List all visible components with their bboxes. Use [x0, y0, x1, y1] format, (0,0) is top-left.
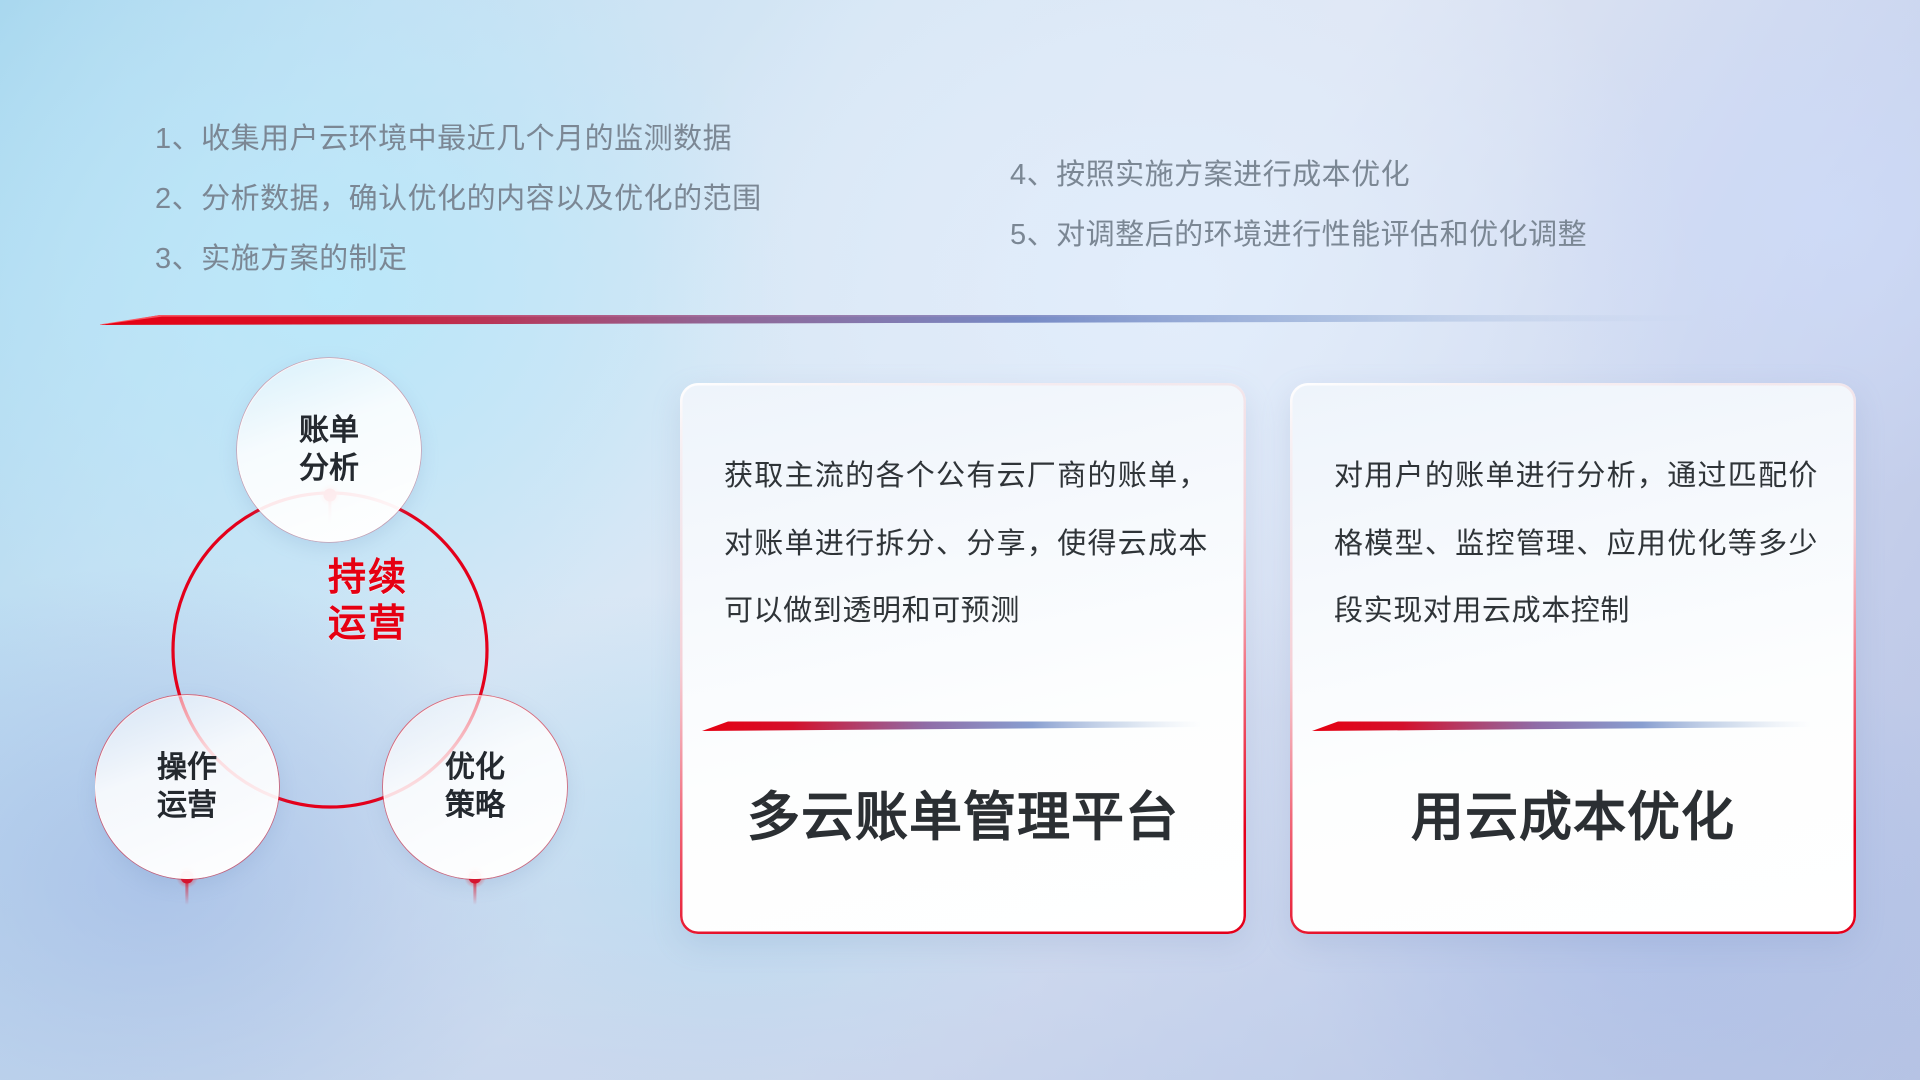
step-item-5: 5、对调整后的环境进行性能评估和优化调整 — [1010, 211, 1587, 253]
venn-center-label-line1: 持续 — [273, 555, 463, 601]
feature-card-rule — [1312, 719, 1812, 732]
venn-bubble-optimization-strategy[interactable]: 优化 策略 — [383, 695, 567, 879]
step-item-3: 3、实施方案的制定 — [155, 235, 408, 277]
venn-bubble-operations[interactable]: 操作 运营 — [95, 695, 279, 879]
feature-card-title: 用云成本优化 — [1290, 775, 1856, 851]
feature-card-body: 对用户的账单进行分析，通过匹配价格模型、监控管理、应用优化等多少段实现对用云成本… — [1334, 443, 1818, 646]
feature-card-multicloud-billing[interactable]: 获取主流的各个公有云厂商的账单，对账单进行拆分、分享，使得云成本可以做到透明和可… — [680, 383, 1246, 934]
venn-center-label-line2: 运营 — [273, 601, 463, 647]
slide-canvas: 1、收集用户云环境中最近几个月的监测数据 2、分析数据，确认优化的内容以及优化的… — [0, 0, 1920, 1080]
step-item-1: 1、收集用户云环境中最近几个月的监测数据 — [155, 115, 732, 157]
section-divider — [100, 312, 1700, 326]
venn-bubble-label-line1: 操作 — [157, 749, 217, 787]
venn-bubble-label-line2: 策略 — [445, 787, 505, 825]
step-item-2: 2、分析数据，确认优化的内容以及优化的范围 — [155, 175, 762, 217]
venn-center-label: 持续 运营 — [273, 555, 463, 648]
feature-card-title: 多云账单管理平台 — [680, 775, 1246, 851]
venn-bubble-label-line1: 优化 — [445, 749, 505, 787]
step-item-4: 4、按照实施方案进行成本优化 — [1010, 151, 1410, 193]
steps-list: 1、收集用户云环境中最近几个月的监测数据 2、分析数据，确认优化的内容以及优化的… — [0, 0, 1920, 300]
venn-bubble-label-line2: 分析 — [299, 450, 359, 488]
feature-card-rule — [702, 719, 1202, 732]
feature-card-cloud-cost-optimization[interactable]: 对用户的账单进行分析，通过匹配价格模型、监控管理、应用优化等多少段实现对用云成本… — [1290, 383, 1856, 934]
venn-bubble-label-line2: 运营 — [157, 787, 217, 825]
venn-bubble-label-line1: 账单 — [299, 412, 359, 450]
venn-bubble-bill-analysis[interactable]: 账单 分析 — [237, 358, 421, 542]
feature-card-body: 获取主流的各个公有云厂商的账单，对账单进行拆分、分享，使得云成本可以做到透明和可… — [724, 443, 1208, 646]
continuous-operations-diagram: 账单 分析 操作 运营 优化 策略 持续 运营 — [95, 350, 655, 960]
